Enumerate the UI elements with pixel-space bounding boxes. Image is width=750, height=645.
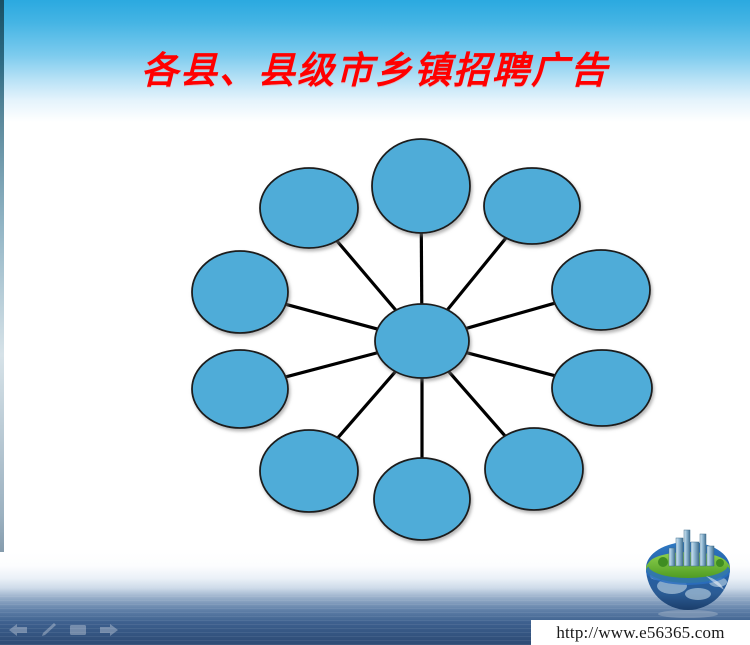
node-bottom[interactable]	[374, 458, 470, 540]
connector-node-left-lower	[286, 353, 378, 377]
menu-icon[interactable]	[69, 623, 87, 637]
pen-icon[interactable]	[40, 622, 58, 638]
connector-node-upper-left	[337, 241, 396, 310]
node-right-upper[interactable]	[552, 250, 650, 330]
watermark-url-text: http://www.e56365.com	[556, 623, 724, 643]
connector-node-right-lower	[467, 353, 555, 376]
node-upper-right[interactable]	[484, 168, 580, 244]
node-lower-left[interactable]	[260, 430, 358, 512]
node-left-lower[interactable]	[192, 350, 288, 428]
slideshow-nav-bar[interactable]	[7, 619, 119, 641]
node-upper-left[interactable]	[260, 168, 358, 248]
connector-node-lower-left	[338, 372, 396, 438]
node-lower-right[interactable]	[485, 428, 583, 510]
url-watermark: http://www.e56365.com	[531, 620, 750, 645]
earth-city-globe-logo	[636, 524, 740, 620]
node-right-lower[interactable]	[552, 350, 652, 426]
connector-node-upper-right	[447, 238, 506, 310]
connector-node-right-upper	[466, 303, 555, 328]
diagram-nodes	[192, 139, 652, 540]
node-left-upper[interactable]	[192, 251, 288, 333]
presentation-slide: 各县、县级市乡镇招聘广告	[0, 0, 750, 645]
next-slide-icon[interactable]	[98, 622, 120, 638]
center-node[interactable]	[375, 304, 469, 378]
previous-slide-icon[interactable]	[7, 622, 29, 638]
node-top[interactable]	[372, 139, 470, 233]
connector-node-lower-right	[449, 371, 505, 435]
connector-node-left-upper	[286, 304, 378, 329]
